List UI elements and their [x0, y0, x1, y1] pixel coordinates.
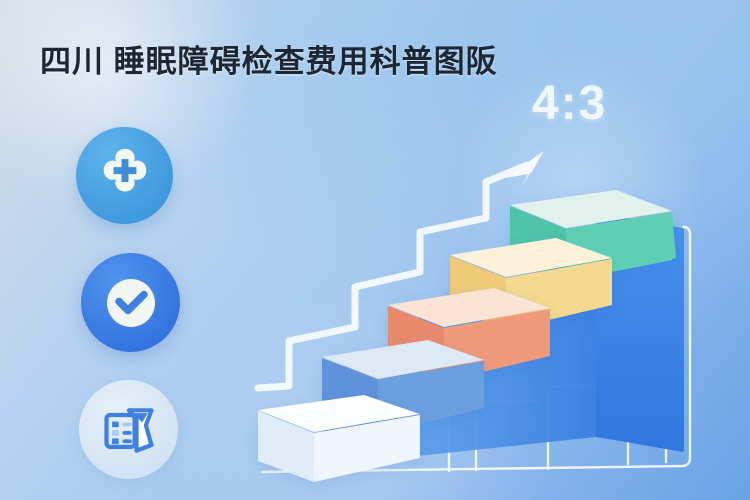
- step-4-yellow: [450, 238, 612, 330]
- arrow-head-icon: [506, 152, 543, 186]
- report-document-badge: [79, 380, 178, 479]
- ghost-outline-frame: [262, 227, 690, 472]
- staircase-back-panel: [520, 213, 684, 470]
- plus-in-clover-icon: [94, 145, 156, 207]
- decorative-glow-bottom: [150, 300, 570, 500]
- aspect-ratio-watermark: 4:3: [532, 76, 607, 131]
- staircase-body: [418, 282, 596, 456]
- checkmark-icon: [99, 271, 163, 335]
- step-2-blue: [322, 340, 484, 434]
- step-3-coral: [388, 288, 550, 381]
- step-1-white: [258, 395, 420, 482]
- poster-canvas: 四川 睡眠障碍检查费用科普图阪 4:3: [0, 0, 750, 500]
- check-circle-badge: [81, 253, 180, 352]
- clipboard-check-icon: [99, 400, 159, 460]
- medical-cross-badge: [76, 127, 173, 224]
- staircase-body-lower: [322, 345, 418, 470]
- rising-arrow: [258, 165, 527, 388]
- page-title: 四川 睡眠障碍检查费用科普图阪: [40, 36, 498, 81]
- step-5-teal: [510, 190, 676, 281]
